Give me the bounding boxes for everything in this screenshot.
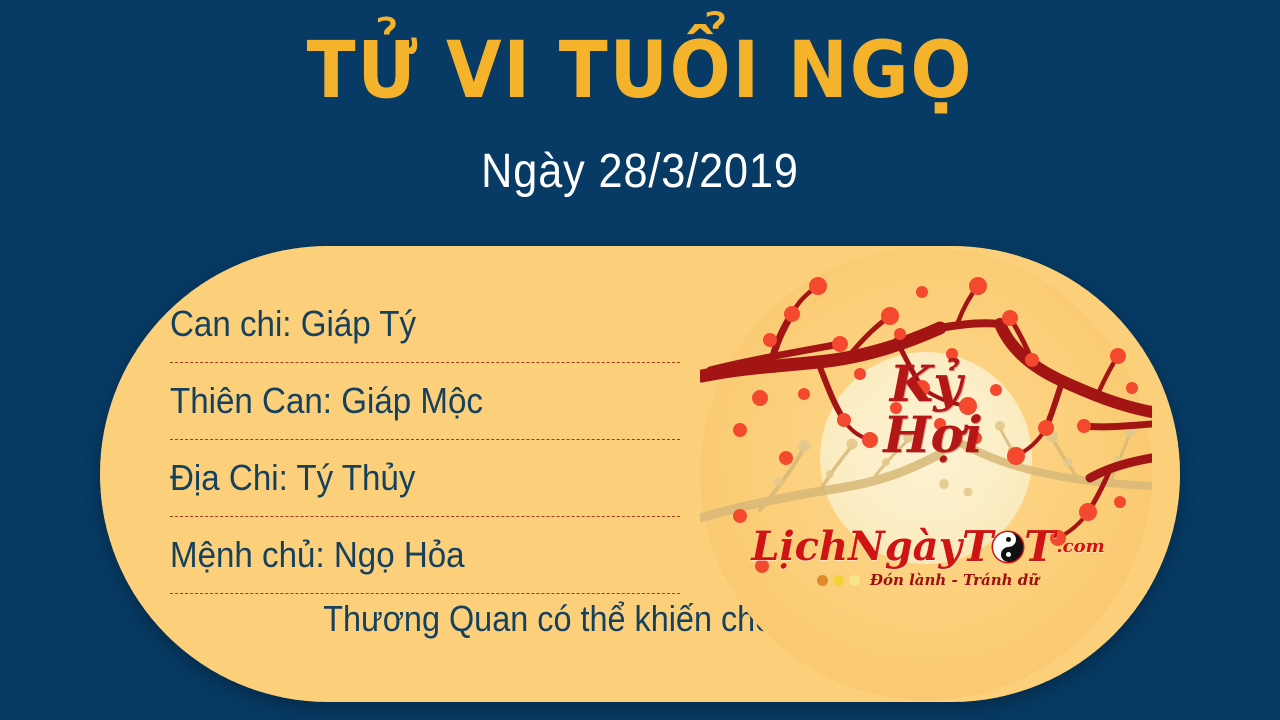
info-row-dia-chi: Địa Chi: Tý Thủy bbox=[170, 440, 680, 517]
tagline-dot-1 bbox=[817, 575, 828, 586]
brand-dotcom: .com bbox=[1056, 538, 1104, 556]
tagline-dot-3 bbox=[849, 575, 860, 586]
brand-tagline-row: Đón lành - Tránh dữ bbox=[748, 571, 1108, 589]
info-row-text: Mệnh chủ: Ngọ Hỏa bbox=[170, 534, 465, 576]
tagline-dot-2 bbox=[833, 575, 844, 586]
brand-tagline-text: Đón lành - Tránh dữ bbox=[870, 571, 1039, 589]
header: TỬ VI TUỔI NGỌ Ngày 28/3/2019 bbox=[0, 0, 1280, 240]
brand-part-ngay: Ngày bbox=[848, 527, 962, 567]
page-subtitle-date: Ngày 28/3/2019 bbox=[64, 148, 1216, 196]
info-row-menh-chu: Mệnh chủ: Ngọ Hỏa bbox=[170, 517, 680, 594]
info-row-text: Can chi: Giáp Tý bbox=[170, 303, 416, 345]
info-list: Can chi: Giáp Tý Thiên Can: Giáp Mộc Địa… bbox=[170, 286, 680, 594]
yin-yang-icon bbox=[993, 532, 1023, 562]
page-title: TỬ VI TUỔI NGỌ bbox=[51, 32, 1229, 110]
info-row-thien-can: Thiên Can: Giáp Mộc bbox=[170, 363, 680, 440]
info-row-text: Thiên Can: Giáp Mộc bbox=[170, 380, 483, 422]
zodiac-artwork: Kỷ Hợi LịchNgàyTT.com Đón lành - Tránh d… bbox=[700, 248, 1152, 700]
info-row-can-chi: Can chi: Giáp Tý bbox=[170, 286, 680, 363]
info-row-text: Địa Chi: Tý Thủy bbox=[170, 457, 415, 499]
brand-logo[interactable]: LịchNgàyTT.com Đón lành - Tránh dữ bbox=[748, 526, 1108, 589]
brand-wordmark: LịchNgàyTT.com bbox=[751, 526, 1104, 568]
cherry-blossom-branch-icon bbox=[700, 248, 1152, 700]
brand-part-t-after: T bbox=[1024, 526, 1054, 568]
brand-part-lich: Lịch bbox=[751, 527, 848, 567]
brand-part-t-before: T bbox=[962, 526, 992, 568]
horoscope-card: Can chi: Giáp Tý Thiên Can: Giáp Mộc Địa… bbox=[100, 246, 1180, 702]
